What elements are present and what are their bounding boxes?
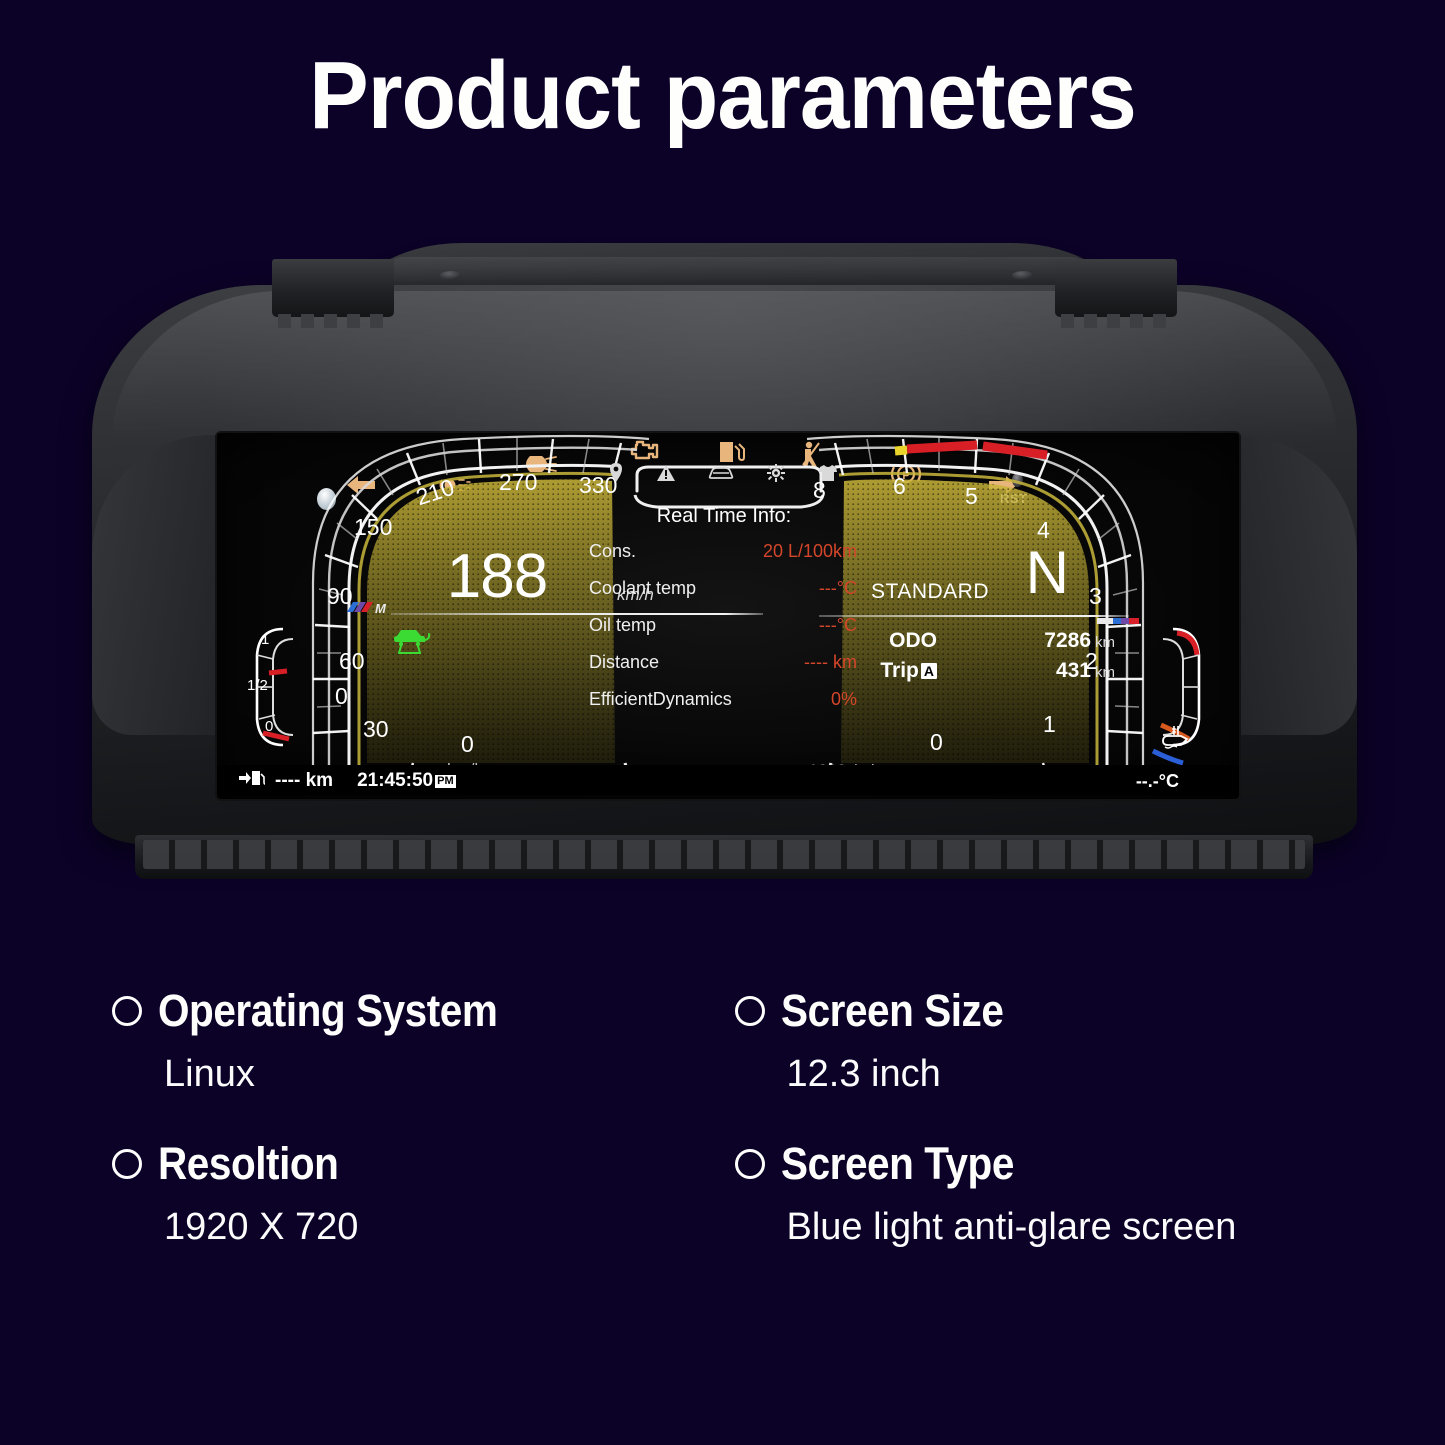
trip-unit: km — [1095, 664, 1129, 681]
green-eco-car-icon — [392, 623, 432, 660]
spec-title: Resoltion — [158, 1138, 338, 1190]
spec-heading: Screen Size — [735, 985, 1346, 1037]
car-icon — [708, 465, 734, 486]
spec-item-screen-type: Screen Type Blue light anti-glare screen — [723, 1138, 1346, 1249]
spec-title: Screen Size — [781, 985, 1003, 1037]
tach-tick-1: 1 — [1043, 711, 1056, 738]
spec-value: Blue light anti-glare screen — [787, 1206, 1346, 1249]
trip-value: 431 — [937, 659, 1095, 683]
svg-text:M: M — [375, 601, 387, 616]
drive-panel-underline — [819, 615, 1129, 617]
fuel-label-full: 1 — [261, 631, 269, 648]
bmw-m-logo: M — [347, 601, 401, 616]
info-label: Distance — [589, 652, 659, 673]
speed-tick-270: 270 — [499, 469, 537, 496]
info-label: Cons. — [589, 541, 636, 562]
spec-title: Screen Type — [781, 1138, 1014, 1190]
circle-bullet-icon — [112, 996, 142, 1026]
range-value: ---- km — [275, 770, 333, 792]
circle-bullet-icon — [735, 996, 765, 1026]
tach-tick-0: 0 — [930, 729, 943, 756]
drive-mode-label: STANDARD — [871, 580, 989, 604]
tach-tick-6: 6 — [893, 473, 906, 500]
location-pin-icon — [609, 463, 623, 488]
spec-heading: Resoltion — [112, 1138, 723, 1190]
connector-plug-left — [272, 259, 394, 317]
hood-screw-left — [440, 271, 462, 280]
speed-tick-zero-bottom: 0 — [461, 731, 474, 758]
spec-heading: Screen Type — [735, 1138, 1346, 1190]
info-row-cons: Cons. 20 L/100km — [589, 541, 857, 562]
page-title: Product parameters — [51, 46, 1395, 147]
gear-icon — [767, 464, 785, 487]
info-row-coolant-temp: Coolant temp ---°C — [589, 578, 857, 599]
odo-row: ODO 7286 km — [809, 629, 1129, 653]
fuel-label-half: 1/2 — [247, 677, 268, 694]
m-stripe-accent — [1097, 611, 1139, 617]
spec-value: 12.3 inch — [787, 1053, 1346, 1096]
outside-temperature: --.-°C — [1136, 771, 1179, 792]
trip-label-wrap: TripA — [809, 659, 937, 683]
odo-unit: km — [1095, 634, 1129, 651]
speed-tick-150: 150 — [354, 514, 392, 541]
info-value: ---°C — [819, 578, 857, 599]
tach-tick-3: 3 — [1089, 583, 1102, 610]
info-value: 0% — [831, 689, 857, 710]
circle-bullet-icon — [112, 1149, 142, 1179]
speed-value: 188 — [367, 541, 627, 612]
spec-item-screen-size: Screen Size 12.3 inch — [723, 985, 1346, 1096]
info-label: Coolant temp — [589, 578, 696, 599]
lcd-display[interactable]: P RST — [217, 433, 1239, 799]
connector-ridges — [143, 840, 1305, 869]
clock-time: 21:45:50 — [357, 770, 433, 792]
info-value: 20 L/100km — [763, 541, 857, 562]
instrument-cluster: P RST — [92, 215, 1357, 930]
info-label: EfficientDynamics — [589, 689, 732, 710]
spec-item-operating-system: Operating System Linux — [100, 985, 723, 1096]
warning-triangle-icon — [656, 464, 676, 487]
tach-tick-5: 5 — [965, 483, 978, 510]
info-label: Oil temp — [589, 615, 656, 636]
speed-tick-60: 60 — [339, 648, 365, 675]
real-time-info-title: Real Time Info: — [609, 505, 839, 528]
speed-tick-0: 0 — [335, 683, 348, 710]
connector-pins — [278, 314, 388, 328]
odo-label: ODO — [809, 629, 937, 653]
connector-rail — [135, 835, 1313, 879]
odometer-panel: ODO 7286 km TripA 431 km — [809, 629, 1129, 689]
spec-item-resolution: Resoltion 1920 X 720 — [100, 1138, 723, 1249]
connector-plug-right — [1055, 259, 1177, 317]
spec-value: Linux — [164, 1053, 723, 1096]
trip-label: Trip — [880, 659, 919, 682]
spec-value: 1920 X 720 — [164, 1206, 723, 1249]
speed-tick-30: 30 — [363, 716, 389, 743]
gear-indicator: N — [1026, 543, 1069, 603]
fuel-label-empty: 0 — [265, 718, 273, 735]
connector-pins — [1061, 314, 1171, 328]
circle-bullet-icon — [735, 1149, 765, 1179]
coolant-temp-icon — [1161, 723, 1191, 754]
trip-badge: A — [921, 663, 937, 679]
info-icon-row — [609, 463, 839, 488]
service-icon — [817, 463, 839, 488]
info-row-efficient-dynamics: EfficientDynamics 0% — [589, 689, 857, 710]
status-bar-left: ---- km 21:45:50PM — [239, 769, 456, 793]
spec-grid: Operating System Linux Screen Size 12.3 … — [0, 985, 1445, 1249]
trip-row: TripA 431 km — [809, 659, 1129, 683]
odo-value: 7286 — [937, 629, 1095, 653]
spec-heading: Operating System — [112, 985, 723, 1037]
status-bar: ---- km 21:45:50PM --.-°C — [217, 765, 1239, 795]
clock-meridiem: PM — [435, 775, 456, 788]
hood-screw-right — [1012, 271, 1034, 280]
spec-title: Operating System — [158, 985, 497, 1037]
fuel-pump-icon — [239, 769, 265, 793]
